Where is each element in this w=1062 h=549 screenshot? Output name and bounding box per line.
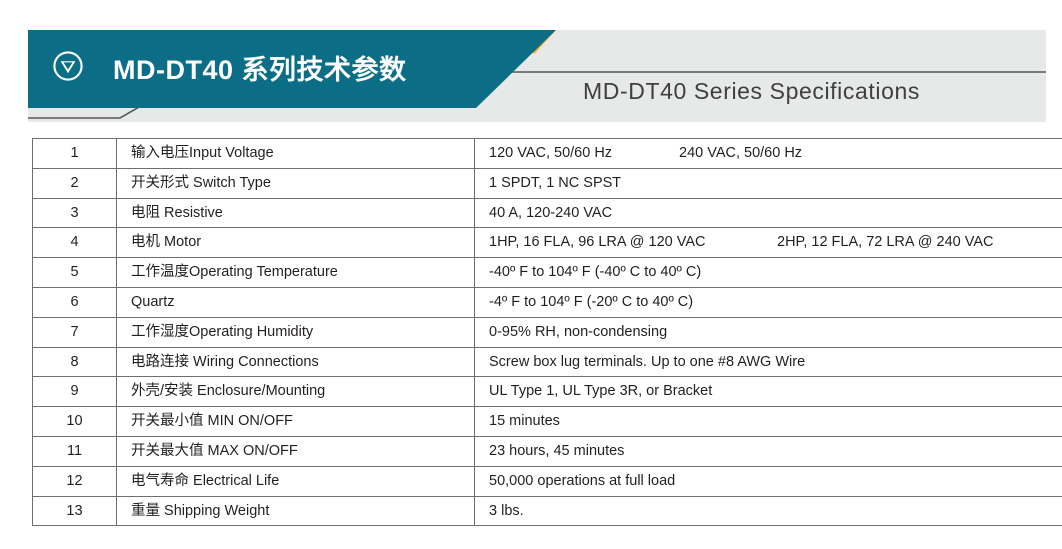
row-number: 9 <box>33 377 117 407</box>
row-value: 3 lbs. <box>475 496 1062 526</box>
row-number: 8 <box>33 347 117 377</box>
row-label: 输入电压Input Voltage <box>117 139 475 169</box>
row-value-primary: 0-95% RH, non-condensing <box>489 324 679 341</box>
row-label: 开关最大值 MAX ON/OFF <box>117 436 475 466</box>
row-label: 外壳/安装 Enclosure/Mounting <box>117 377 475 407</box>
row-value-primary: -4º F to 104º F (-20º C to 40º C) <box>489 294 693 311</box>
row-value: 120 VAC, 50/60 Hz240 VAC, 50/60 Hz <box>475 139 1062 169</box>
row-number: 5 <box>33 258 117 288</box>
row-number: 10 <box>33 407 117 437</box>
row-number: 1 <box>33 139 117 169</box>
circle-chevron-down-icon <box>52 50 84 82</box>
row-label: 重量 Shipping Weight <box>117 496 475 526</box>
row-value: 23 hours, 45 minutes <box>475 436 1062 466</box>
table-row: 10 开关最小值 MIN ON/OFF 15 minutes <box>33 407 1062 437</box>
table-row: 5 工作温度Operating Temperature -40º F to 10… <box>33 258 1062 288</box>
row-value: 40 A, 120-240 VAC <box>475 198 1062 228</box>
row-number: 7 <box>33 317 117 347</box>
banner-subtitle-en: MD-DT40 Series Specifications <box>583 78 920 105</box>
table-row: 9 外壳/安装 Enclosure/Mounting UL Type 1, UL… <box>33 377 1062 407</box>
row-value: UL Type 1, UL Type 3R, or Bracket <box>475 377 1062 407</box>
row-value-primary: -40º F to 104º F (-40º C to 40º C) <box>489 264 701 281</box>
row-number: 13 <box>33 496 117 526</box>
specifications-table-body: 1 输入电压Input Voltage 120 VAC, 50/60 Hz240… <box>33 139 1062 526</box>
banner-title-cn: MD-DT40 系列技术参数 <box>113 48 407 87</box>
row-label: 电气寿命 Electrical Life <box>117 466 475 496</box>
row-number: 4 <box>33 228 117 258</box>
row-label: 电阻 Resistive <box>117 198 475 228</box>
row-label: Quartz <box>117 287 475 317</box>
table-row: 12 电气寿命 Electrical Life 50,000 operation… <box>33 466 1062 496</box>
row-value-secondary: 240 VAC, 50/60 Hz <box>679 145 802 162</box>
row-number: 3 <box>33 198 117 228</box>
row-number: 2 <box>33 168 117 198</box>
table-row: 1 输入电压Input Voltage 120 VAC, 50/60 Hz240… <box>33 139 1062 169</box>
table-row: 4 电机 Motor 1HP, 16 FLA, 96 LRA @ 120 VAC… <box>33 228 1062 258</box>
row-value-primary: 15 minutes <box>489 413 679 430</box>
row-value-primary: Screw box lug terminals. Up to one #8 AW… <box>489 354 805 371</box>
table-row: 6 Quartz -4º F to 104º F (-20º C to 40º … <box>33 287 1062 317</box>
row-value: 50,000 operations at full load <box>475 466 1062 496</box>
row-value-primary: 1HP, 16 FLA, 96 LRA @ 120 VAC <box>489 234 777 251</box>
row-label: 开关形式 Switch Type <box>117 168 475 198</box>
row-value-secondary: 2HP, 12 FLA, 72 LRA @ 240 VAC <box>777 234 994 251</box>
row-value: 1 SPDT, 1 NC SPST <box>475 168 1062 198</box>
row-value-primary: 50,000 operations at full load <box>489 473 679 490</box>
page-header: MD-DT40 系列技术参数 MD-DT40 Series Specificat… <box>0 0 1062 126</box>
row-label: 电路连接 Wiring Connections <box>117 347 475 377</box>
row-value-primary: 120 VAC, 50/60 Hz <box>489 145 679 162</box>
row-label: 开关最小值 MIN ON/OFF <box>117 407 475 437</box>
table-row: 7 工作湿度Operating Humidity 0-95% RH, non-c… <box>33 317 1062 347</box>
row-number: 11 <box>33 436 117 466</box>
table-row: 13 重量 Shipping Weight 3 lbs. <box>33 496 1062 526</box>
row-value: 1HP, 16 FLA, 96 LRA @ 120 VAC2HP, 12 FLA… <box>475 228 1062 258</box>
table-row: 11 开关最大值 MAX ON/OFF 23 hours, 45 minutes <box>33 436 1062 466</box>
row-label: 电机 Motor <box>117 228 475 258</box>
table-row: 2 开关形式 Switch Type 1 SPDT, 1 NC SPST <box>33 168 1062 198</box>
row-value: 15 minutes <box>475 407 1062 437</box>
row-label: 工作温度Operating Temperature <box>117 258 475 288</box>
table-row: 3 电阻 Resistive 40 A, 120-240 VAC <box>33 198 1062 228</box>
row-value-primary: 1 SPDT, 1 NC SPST <box>489 175 679 192</box>
row-value-primary: 40 A, 120-240 VAC <box>489 205 679 222</box>
row-number: 12 <box>33 466 117 496</box>
table-row: 8 电路连接 Wiring Connections Screw box lug … <box>33 347 1062 377</box>
row-value: 0-95% RH, non-condensing <box>475 317 1062 347</box>
row-value-primary: 23 hours, 45 minutes <box>489 443 679 460</box>
row-value-primary: UL Type 1, UL Type 3R, or Bracket <box>489 383 712 400</box>
row-label: 工作湿度Operating Humidity <box>117 317 475 347</box>
row-value: -40º F to 104º F (-40º C to 40º C) <box>475 258 1062 288</box>
specifications-table: 1 输入电压Input Voltage 120 VAC, 50/60 Hz240… <box>32 138 1062 526</box>
row-value: Screw box lug terminals. Up to one #8 AW… <box>475 347 1062 377</box>
row-value: -4º F to 104º F (-20º C to 40º C) <box>475 287 1062 317</box>
row-number: 6 <box>33 287 117 317</box>
row-value-primary: 3 lbs. <box>489 503 679 520</box>
